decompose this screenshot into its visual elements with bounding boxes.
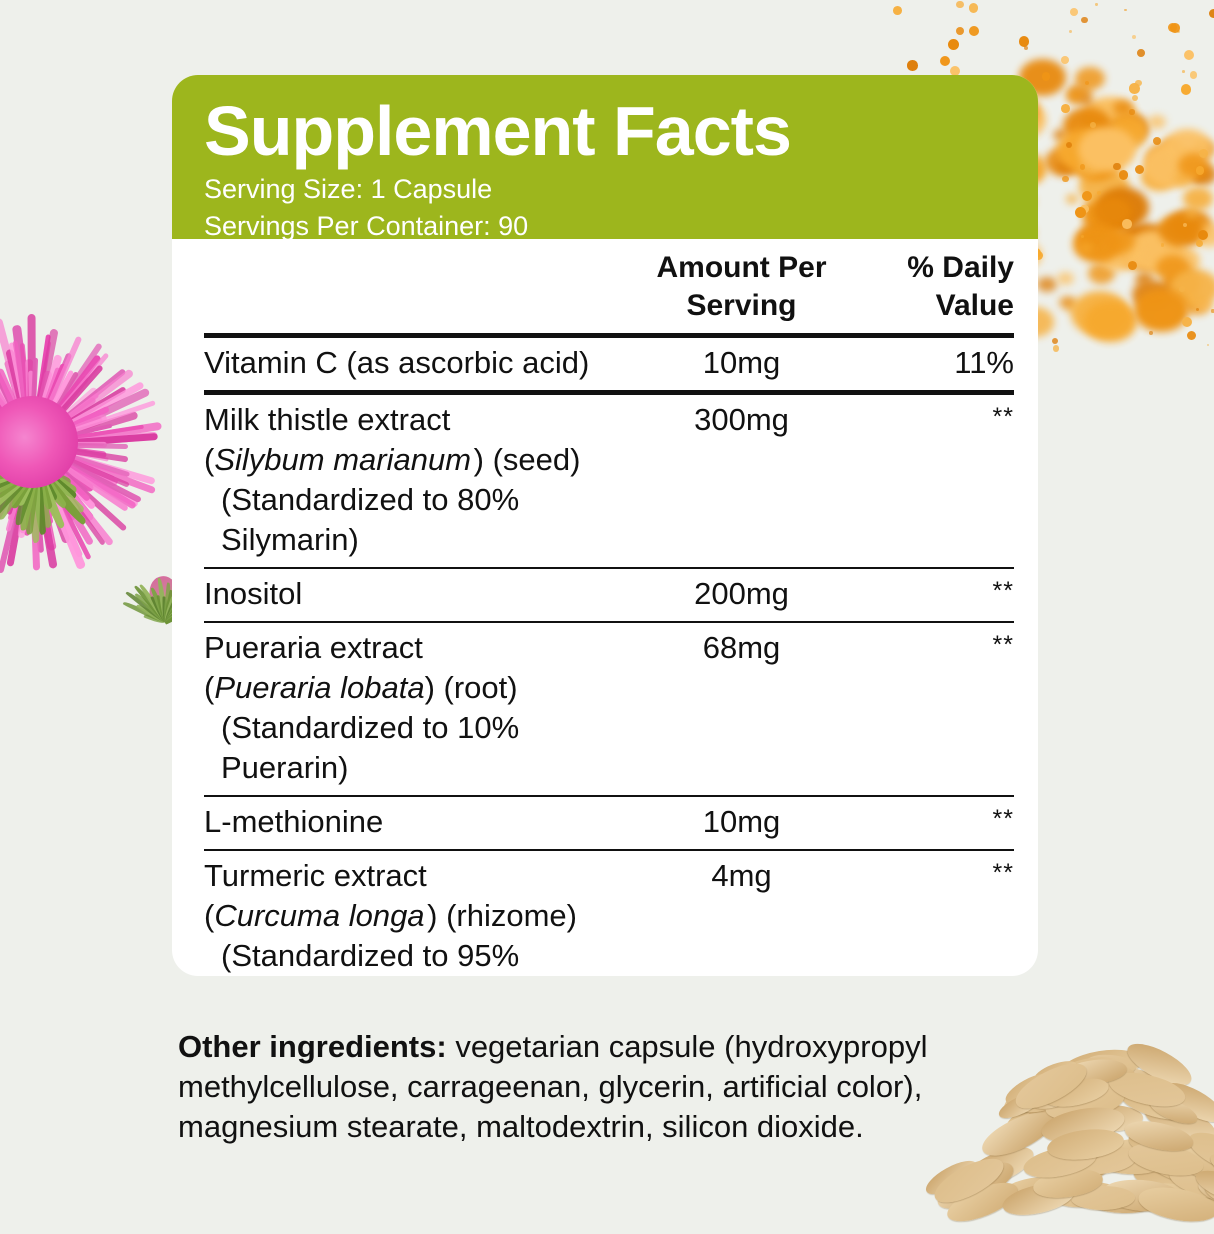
column-header-name	[204, 249, 634, 336]
ingredient-daily-value: **	[849, 395, 1014, 568]
table-row: Vitamin C (as ascorbic acid) 10mg 11%	[204, 338, 1014, 393]
ingredient-title: Turmeric extract	[204, 858, 427, 893]
ingredient-amount: 4mg	[634, 851, 849, 976]
ingredient-amount: 68mg	[634, 623, 849, 796]
supplement-facts-card: Supplement Facts Serving Size: 1 Capsule…	[172, 75, 1038, 976]
ingredient-source: (Curcuma longa ) (rhizome)	[204, 896, 634, 936]
ingredient-name: Turmeric extract (Curcuma longa ) (rhizo…	[204, 851, 634, 976]
ingredient-name: Vitamin C (as ascorbic acid)	[204, 338, 634, 393]
ingredient-title: Pueraria extract	[204, 630, 423, 665]
ingredient-daily-value: **	[849, 851, 1014, 976]
card-body: Amount Per Serving % Daily Value Vitamin…	[172, 249, 1038, 976]
column-header-amount: Amount Per Serving	[634, 249, 849, 336]
table-row: Turmeric extract (Curcuma longa ) (rhizo…	[204, 851, 1014, 976]
ingredient-name: Pueraria extract (Pueraria lobata) (root…	[204, 623, 634, 796]
ingredient-daily-value: 11%	[849, 338, 1014, 393]
ingredient-daily-value: **	[849, 569, 1014, 622]
thistle-center	[0, 396, 78, 488]
ingredient-amount: 300mg	[634, 395, 849, 568]
servings-per-container-text: Servings Per Container: 90	[204, 210, 1038, 243]
ingredient-source: (Pueraria lobata) (root)	[204, 668, 634, 708]
table-header-row: Amount Per Serving % Daily Value	[204, 249, 1014, 336]
table-row: Pueraria extract (Pueraria lobata) (root…	[204, 623, 1014, 796]
ingredient-name: Inositol	[204, 569, 634, 622]
serving-size-text: Serving Size: 1 Capsule	[204, 173, 1038, 206]
ingredient-standardization: (Standardized to 80% Silymarin)	[204, 480, 634, 560]
ingredient-amount: 10mg	[634, 338, 849, 393]
ingredient-amount: 10mg	[634, 797, 849, 850]
milk-thistle-flower-image	[0, 292, 182, 592]
ingredient-standardization: (Standardized to 95% Curcuminoids)	[204, 936, 634, 976]
other-ingredients: Other ingredients: vegetarian capsule (h…	[178, 1027, 1048, 1147]
ingredient-name: Milk thistle extract (Silybum marianum )…	[204, 395, 634, 568]
ingredient-daily-value: **	[849, 623, 1014, 796]
page-title: Supplement Facts	[204, 93, 1038, 169]
ingredient-title: Milk thistle extract	[204, 402, 450, 437]
ingredient-amount: 200mg	[634, 569, 849, 622]
ingredient-daily-value: **	[849, 797, 1014, 850]
other-ingredients-label: Other ingredients:	[178, 1029, 447, 1064]
ingredient-name: L-methionine	[204, 797, 634, 850]
ingredient-standardization: (Standardized to 10% Puerarin)	[204, 708, 634, 788]
column-header-daily-value: % Daily Value	[849, 249, 1014, 336]
table-row: Inositol 200mg **	[204, 569, 1014, 622]
ingredient-source: (Silybum marianum ) (seed)	[204, 440, 634, 480]
table-row: L-methionine 10mg **	[204, 797, 1014, 850]
supplement-facts-table: Amount Per Serving % Daily Value Vitamin…	[204, 249, 1014, 976]
table-row: Milk thistle extract (Silybum marianum )…	[204, 395, 1014, 568]
card-header: Supplement Facts Serving Size: 1 Capsule…	[172, 75, 1038, 239]
